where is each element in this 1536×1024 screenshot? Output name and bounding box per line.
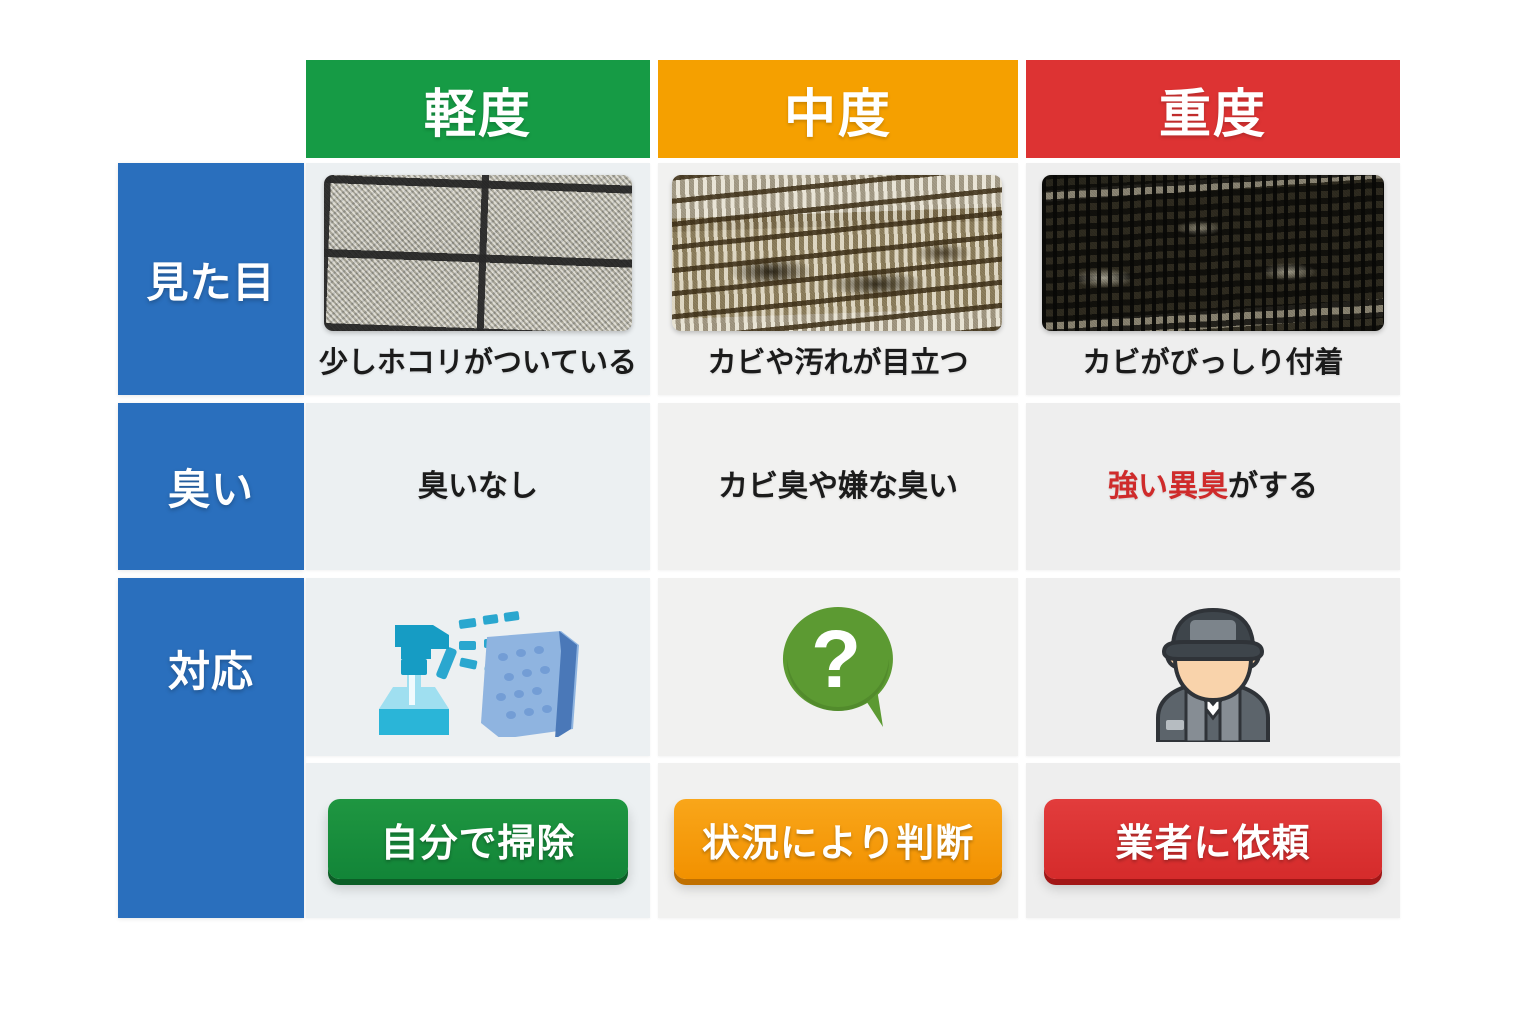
spray-bottle-and-sponge-icon xyxy=(306,578,650,756)
smell-text-severe: 強い異臭がする xyxy=(1108,469,1318,505)
service-worker-icon xyxy=(1026,578,1400,756)
smell-rest-severe: がする xyxy=(1228,470,1318,503)
row-label-action: 対応 xyxy=(118,578,304,918)
photo-grain xyxy=(324,175,632,331)
smell-cell-moderate: カビ臭や嫌な臭い xyxy=(658,403,1018,570)
header-cell-moderate: 中度 xyxy=(658,60,1018,158)
appearance-caption-severe: カビがびっしり付着 xyxy=(1026,339,1400,381)
action-button-moderate-label: 状況により判断 xyxy=(702,812,974,867)
action-button-cell-moderate: 状況により判断 xyxy=(658,763,1018,918)
row-label-appearance: 見た目 xyxy=(118,163,304,395)
header-label-moderate: 中度 xyxy=(784,72,892,147)
action-button-severe[interactable]: 業者に依頼 xyxy=(1044,799,1382,879)
action-button-severe-label: 業者に依頼 xyxy=(1115,812,1310,867)
action-button-moderate[interactable]: 状況により判断 xyxy=(674,799,1002,879)
photo-grain xyxy=(672,175,1002,331)
appearance-caption-light: 少しホコリがついている xyxy=(306,339,650,381)
appearance-caption-moderate: カビや汚れが目立つ xyxy=(658,339,1018,381)
appearance-cell-moderate: カビや汚れが目立つ xyxy=(658,163,1018,395)
filter-heavy-mold-photo xyxy=(1042,175,1384,331)
smell-cell-severe: 強い異臭がする xyxy=(1026,403,1400,570)
row-label-smell: 臭い xyxy=(118,403,304,570)
action-icon-cell-moderate: ? xyxy=(658,578,1018,756)
action-button-light[interactable]: 自分で掃除 xyxy=(328,799,628,879)
action-icon-cell-light xyxy=(306,578,650,756)
appearance-cell-severe: カビがびっしり付着 xyxy=(1026,163,1400,395)
filter-moderate-mold-photo xyxy=(672,175,1002,331)
row-label-action-text: 対応 xyxy=(168,638,254,699)
action-button-cell-light: 自分で掃除 xyxy=(306,763,650,918)
header-label-light: 軽度 xyxy=(424,72,532,147)
filter-light-dust-photo xyxy=(324,175,632,331)
action-button-cell-severe: 業者に依頼 xyxy=(1026,763,1400,918)
header-label-severe: 重度 xyxy=(1159,72,1267,147)
smell-text-moderate: カビ臭や嫌な臭い xyxy=(718,469,958,505)
photo-grain xyxy=(1042,175,1384,331)
svg-text:?: ? xyxy=(811,614,861,705)
smell-cell-light: 臭いなし xyxy=(306,403,650,570)
smell-highlight-severe: 強い異臭 xyxy=(1108,470,1228,503)
action-icon-cell-severe xyxy=(1026,578,1400,756)
header-cell-light: 軽度 xyxy=(306,60,650,158)
comparison-table: 軽度 中度 重度 見た目 少しホコリがついている カビや汚れが目立つ カビがびっ… xyxy=(0,0,1536,1024)
row-label-appearance-text: 見た目 xyxy=(146,249,275,310)
header-cell-severe: 重度 xyxy=(1026,60,1400,158)
green-question-speech-bubble-icon: ? xyxy=(658,578,1018,756)
smell-text-light: 臭いなし xyxy=(418,469,538,505)
appearance-cell-light: 少しホコリがついている xyxy=(306,163,650,395)
row-label-smell-text: 臭い xyxy=(168,456,254,517)
action-button-light-label: 自分で掃除 xyxy=(380,812,575,867)
